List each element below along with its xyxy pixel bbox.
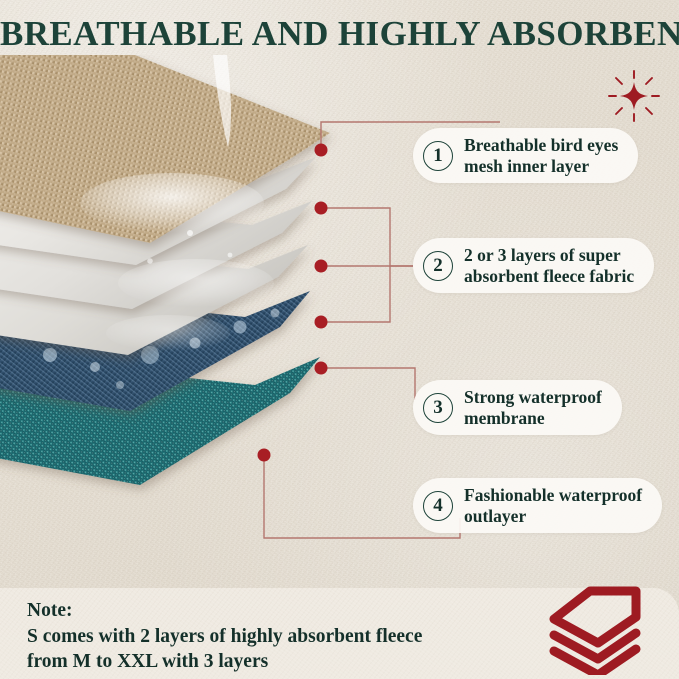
product-infographic: BREATHABLE AND HIGHLY ABSORBENT bbox=[0, 0, 679, 679]
sparkle-icon bbox=[608, 70, 660, 122]
callout-3-number: 3 bbox=[423, 393, 453, 423]
callout-3-text: Strong waterproof membrane bbox=[464, 387, 602, 428]
fabric-layer-cutaway bbox=[0, 55, 410, 525]
callout-1-number: 1 bbox=[423, 141, 453, 171]
callout-4[interactable]: 4 Fashionable waterproof outlayer bbox=[413, 478, 662, 533]
note-text: Note: S comes with 2 layers of highly ab… bbox=[27, 598, 422, 675]
stacked-layers-icon bbox=[544, 583, 652, 675]
callout-2[interactable]: 2 2 or 3 layers of super absorbent fleec… bbox=[413, 238, 654, 293]
callout-2-text: 2 or 3 layers of super absorbent fleece … bbox=[464, 245, 634, 286]
page-title: BREATHABLE AND HIGHLY ABSORBENT bbox=[0, 14, 679, 54]
callout-3[interactable]: 3 Strong waterproof membrane bbox=[413, 380, 622, 435]
callout-2-number: 2 bbox=[423, 251, 453, 281]
callout-4-number: 4 bbox=[423, 491, 453, 521]
callout-1[interactable]: 1 Breathable bird eyes mesh inner layer bbox=[413, 128, 638, 183]
callout-1-text: Breathable bird eyes mesh inner layer bbox=[464, 135, 618, 176]
callout-4-text: Fashionable waterproof outlayer bbox=[464, 485, 642, 526]
